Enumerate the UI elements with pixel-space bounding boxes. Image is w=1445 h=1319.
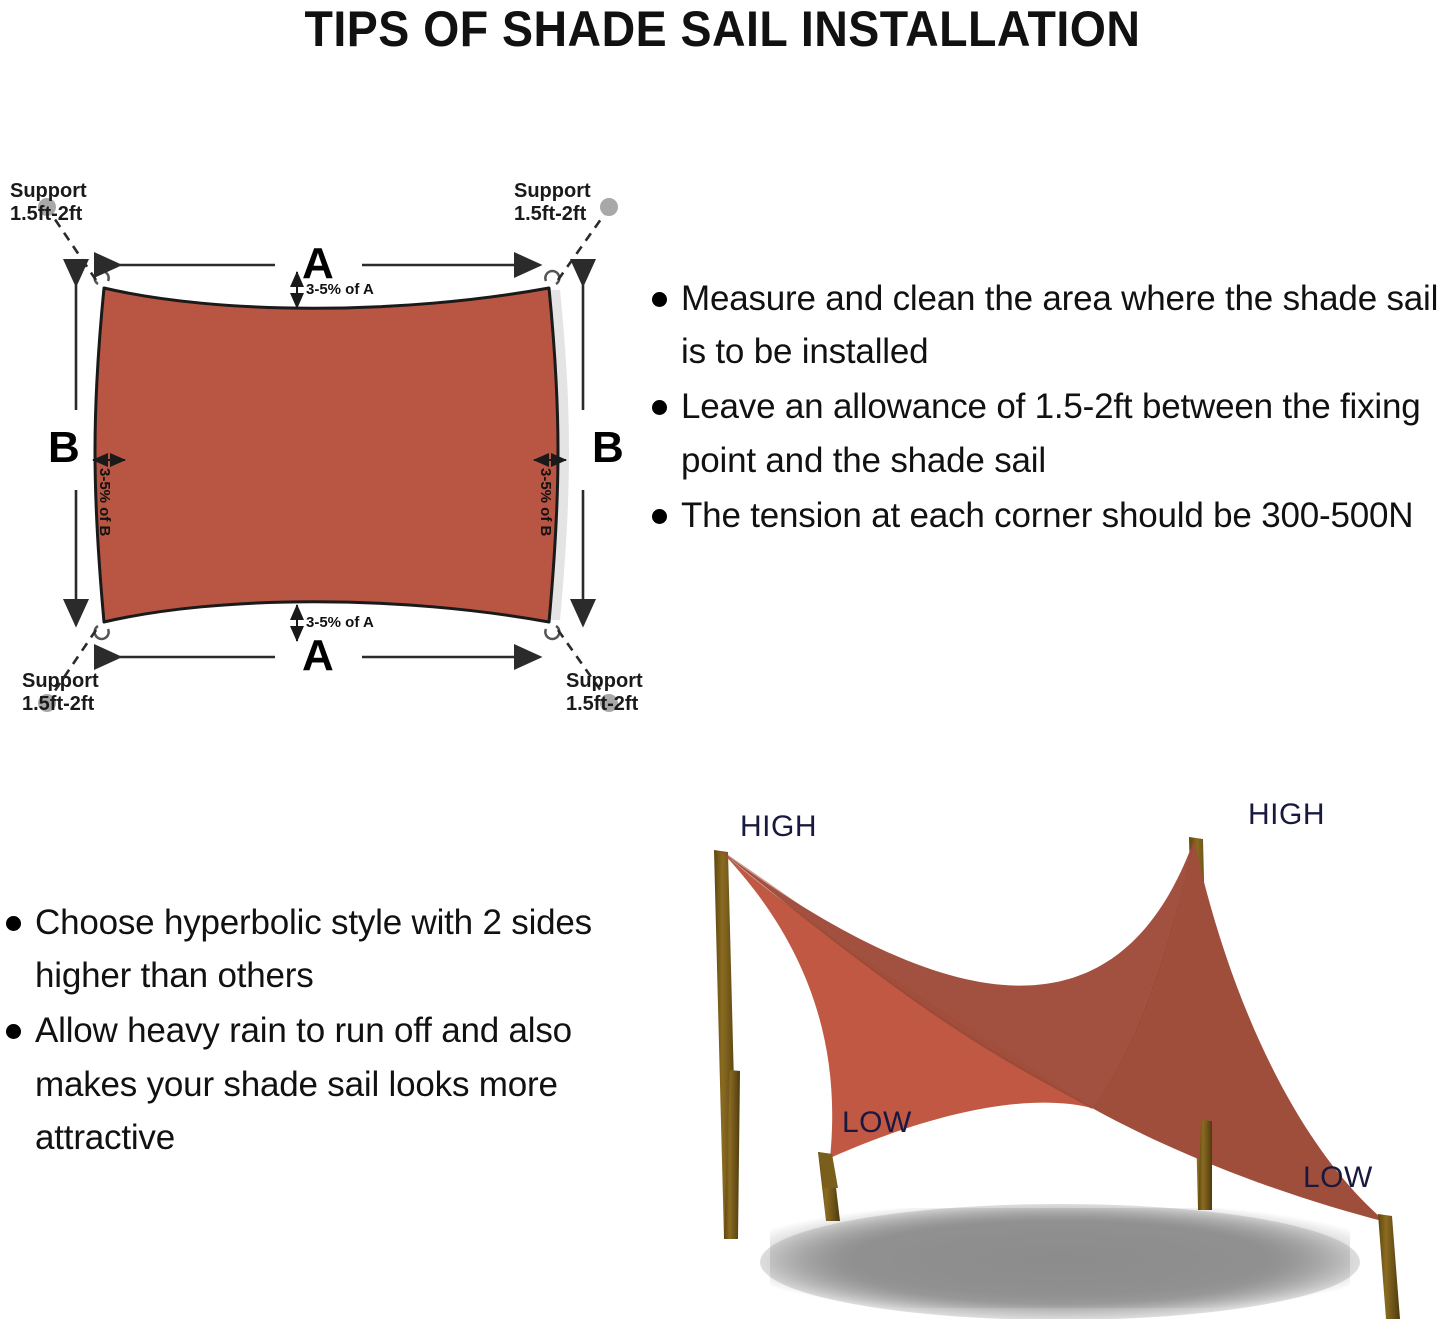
support-label-top-left: Support 1.5ft-2ft — [10, 180, 87, 225]
bullet-dot-icon — [652, 509, 667, 524]
hyperbolic-sail-diagram: HIGH HIGH LOW LOW — [660, 790, 1445, 1319]
support-label-line1: Support — [10, 180, 87, 202]
tolerance-label-left: 3-5% of B — [97, 468, 112, 536]
label-low-right: LOW — [1303, 1163, 1373, 1193]
support-label-line2: 1.5ft-2ft — [22, 693, 94, 715]
label-low-left: LOW — [842, 1108, 912, 1138]
page-title: TIPS OF SHADE SAIL INSTALLATION — [51, 0, 1395, 58]
support-label-line2: 1.5ft-2ft — [514, 203, 586, 225]
tolerance-label-top: 3-5% of A — [306, 282, 374, 297]
list-item: Choose hyperbolic style with 2 sides hig… — [6, 896, 626, 1002]
dimension-label-a-top: A — [302, 242, 334, 286]
tolerance-label-right: 3-5% of B — [538, 468, 553, 536]
list-item: Measure and clean the area where the sha… — [652, 272, 1445, 378]
dimension-label-b-right: B — [592, 426, 624, 470]
label-high-right: HIGH — [1248, 800, 1325, 830]
list-item: Allow heavy rain to run off and also mak… — [6, 1004, 626, 1164]
support-label-line1: Support — [566, 670, 643, 692]
bullet-dot-icon — [6, 1024, 21, 1039]
bullet-dot-icon — [652, 292, 667, 307]
support-label-line2: 1.5ft-2ft — [566, 693, 638, 715]
dimension-label-b-left: B — [48, 426, 80, 470]
list-item: Leave an allowance of 1.5-2ft between th… — [652, 380, 1445, 486]
bullet-dot-icon — [652, 400, 667, 415]
dimension-label-a-bottom: A — [302, 634, 334, 678]
tip-text: Measure and clean the area where the sha… — [681, 272, 1445, 378]
support-label-bottom-left: Support 1.5ft-2ft — [22, 670, 99, 715]
tolerance-label-bottom: 3-5% of A — [306, 615, 374, 630]
support-label-line1: Support — [514, 180, 591, 202]
tip-text: Allow heavy rain to run off and also mak… — [35, 1004, 626, 1164]
support-label-line2: 1.5ft-2ft — [10, 203, 82, 225]
tip-text: Choose hyperbolic style with 2 sides hig… — [35, 896, 626, 1002]
rectangular-sail-diagram: Support 1.5ft-2ft Support 1.5ft-2ft Supp… — [0, 160, 660, 720]
tip-text: Leave an allowance of 1.5-2ft between th… — [681, 380, 1445, 486]
bullet-dot-icon — [6, 916, 21, 931]
support-label-top-right: Support 1.5ft-2ft — [514, 180, 591, 225]
installation-tips-list: Measure and clean the area where the sha… — [652, 272, 1445, 544]
tip-text: The tension at each corner should be 300… — [681, 489, 1413, 542]
support-label-line1: Support — [22, 670, 99, 692]
support-label-bottom-right: Support 1.5ft-2ft — [566, 670, 643, 715]
label-high-left: HIGH — [740, 812, 817, 842]
list-item: The tension at each corner should be 300… — [652, 489, 1445, 542]
hyperbolic-style-tips-list: Choose hyperbolic style with 2 sides hig… — [6, 896, 626, 1166]
